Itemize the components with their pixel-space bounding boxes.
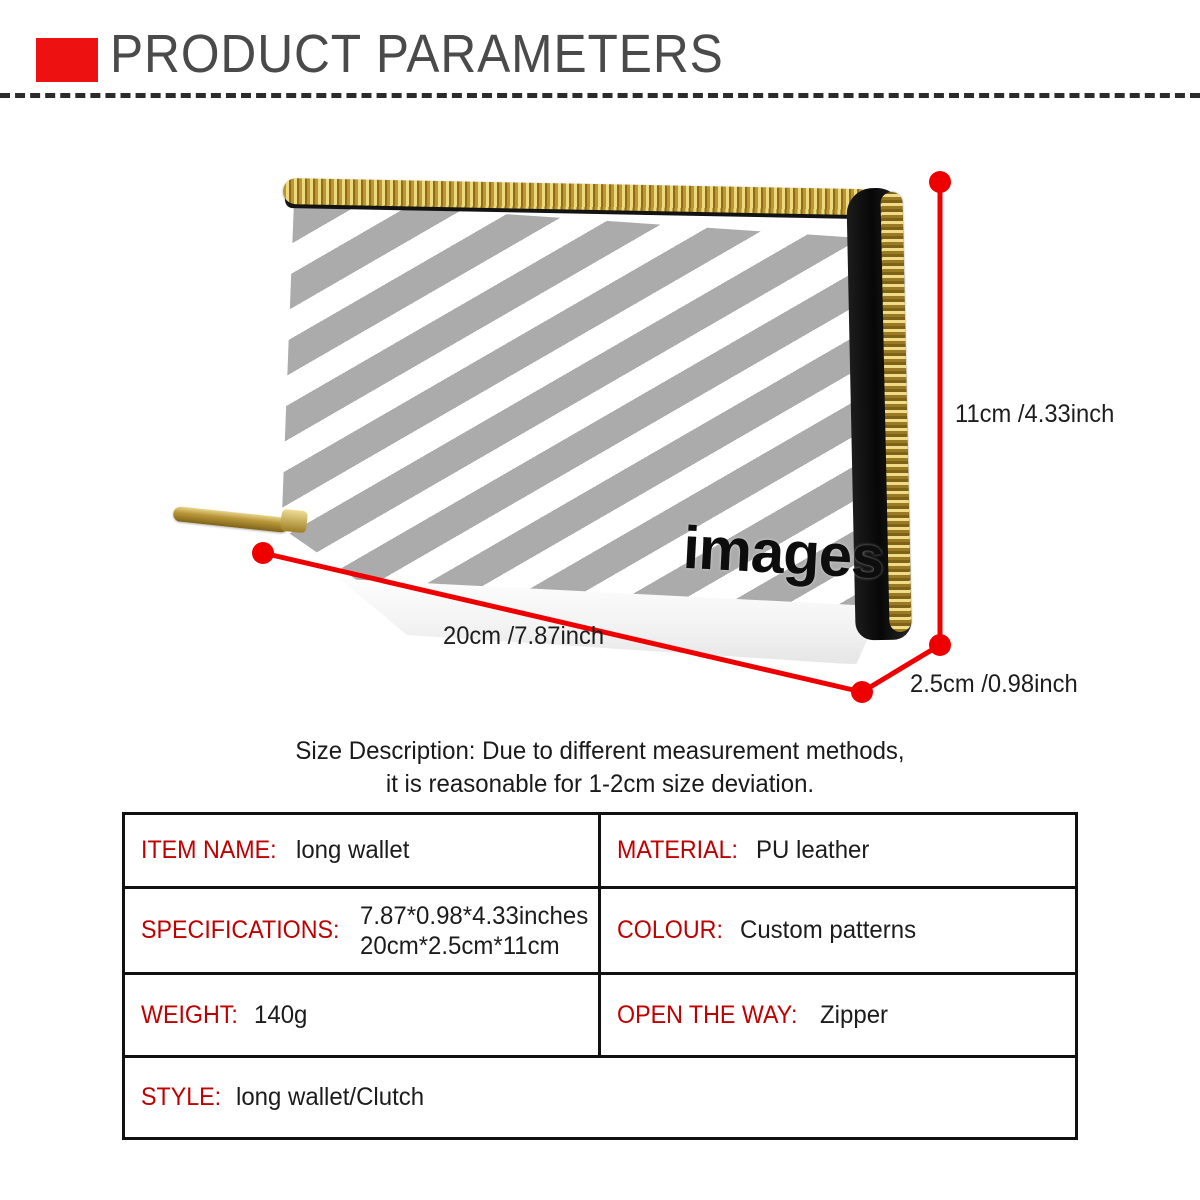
page-header: PRODUCT PARAMETERS <box>0 0 1200 100</box>
label-open-the-way: OPEN THE WAY: <box>617 1001 797 1030</box>
table-row: STYLE: long wallet/Clutch <box>125 1058 1075 1137</box>
table-row: SPECIFICATIONS: 7.87*0.98*4.33inches 20c… <box>125 889 1075 975</box>
label-item-name: ITEM NAME: <box>141 836 277 865</box>
value-open-the-way: Zipper <box>820 1001 888 1030</box>
cell-style: STYLE: long wallet/Clutch <box>125 1058 1075 1137</box>
value-item-name: long wallet <box>296 836 409 865</box>
wallet-product-image: images <box>255 170 935 690</box>
spec-table: ITEM NAME: long wallet MATERIAL: PU leat… <box>122 812 1078 1140</box>
header-divider <box>0 93 1200 98</box>
product-image-area: images <box>0 100 1200 720</box>
cell-item-name: ITEM NAME: long wallet <box>125 815 601 886</box>
size-description-line-2: it is reasonable for 1-2cm size deviatio… <box>24 768 1176 801</box>
value-specifications: 7.87*0.98*4.33inches 20cm*2.5cm*11cm <box>360 901 588 961</box>
table-row: ITEM NAME: long wallet MATERIAL: PU leat… <box>125 815 1075 889</box>
label-style: STYLE: <box>141 1083 221 1112</box>
wallet-body <box>255 170 915 670</box>
table-row: WEIGHT: 140g OPEN THE WAY: Zipper <box>125 975 1075 1058</box>
size-description: Size Description: Due to different measu… <box>0 735 1200 801</box>
label-colour: COLOUR: <box>617 916 723 945</box>
cell-weight: WEIGHT: 140g <box>125 975 601 1055</box>
cell-material: MATERIAL: PU leather <box>601 815 1075 886</box>
cell-colour: COLOUR: Custom patterns <box>601 889 1075 972</box>
cell-open-the-way: OPEN THE WAY: Zipper <box>601 975 1075 1055</box>
zipper-pull-head-icon <box>280 509 308 534</box>
red-square-icon <box>36 38 98 82</box>
value-weight: 140g <box>254 1001 307 1030</box>
value-material: PU leather <box>756 836 869 865</box>
zipper-pull-icon <box>173 506 290 533</box>
page-title: PRODUCT PARAMETERS <box>110 24 724 84</box>
label-material: MATERIAL: <box>617 836 738 865</box>
label-specifications: SPECIFICATIONS: <box>141 916 340 945</box>
size-description-line-1: Size Description: Due to different measu… <box>24 735 1176 768</box>
product-parameters-page: PRODUCT PARAMETERS images <box>0 0 1200 1200</box>
image-watermark: images <box>681 513 885 592</box>
cell-specifications: SPECIFICATIONS: 7.87*0.98*4.33inches 20c… <box>125 889 601 972</box>
label-weight: WEIGHT: <box>141 1001 238 1030</box>
value-style: long wallet/Clutch <box>236 1083 424 1112</box>
value-specifications-cm: 20cm*2.5cm*11cm <box>360 931 588 961</box>
value-specifications-inches: 7.87*0.98*4.33inches <box>360 901 588 931</box>
value-colour: Custom patterns <box>740 916 916 945</box>
